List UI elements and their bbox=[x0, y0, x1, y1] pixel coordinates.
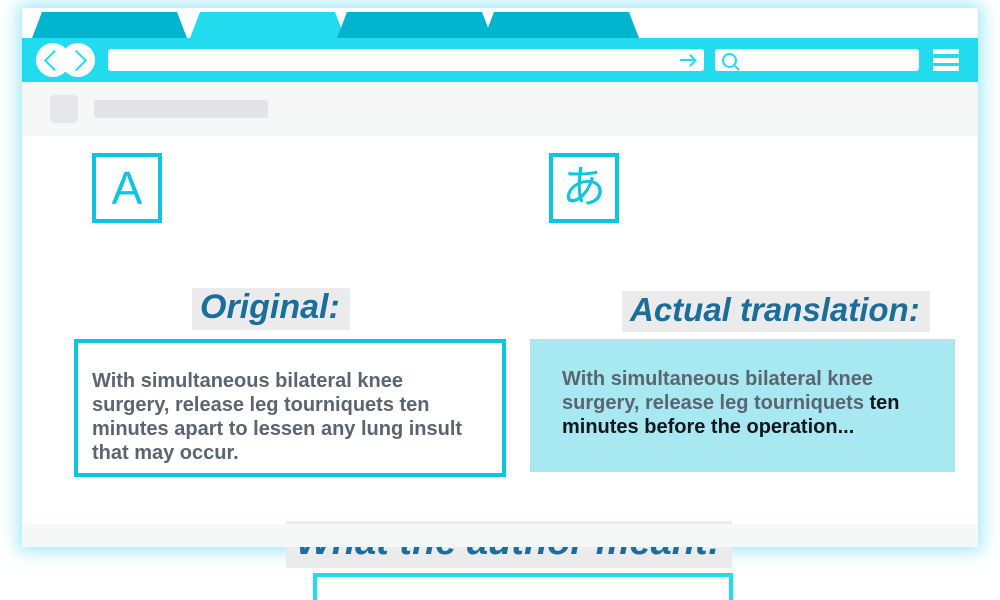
go-button[interactable] bbox=[670, 49, 704, 71]
browser-tab-1[interactable] bbox=[32, 12, 187, 38]
browser-tab-3[interactable] bbox=[337, 12, 492, 38]
search-icon bbox=[722, 53, 737, 68]
original-badge-wrap: A bbox=[92, 153, 162, 223]
back-button[interactable] bbox=[36, 43, 70, 77]
browser-toolbar bbox=[22, 38, 978, 82]
browser-tab-4[interactable] bbox=[484, 12, 639, 38]
arrow-right-icon bbox=[680, 59, 695, 61]
translation-badge-wrap: あ bbox=[549, 153, 619, 223]
search-input[interactable] bbox=[715, 49, 919, 71]
translation-heading: Actual translation: bbox=[622, 291, 930, 332]
bookmark-tile-placeholder[interactable] bbox=[50, 95, 78, 123]
address-bar[interactable] bbox=[108, 49, 704, 71]
translation-text-normal: With simultaneous bilateral knee surgery… bbox=[562, 368, 873, 414]
chevron-left-icon bbox=[44, 49, 65, 70]
author-meant-text: Release the tourniquet from one leg and … bbox=[317, 577, 729, 600]
original-panel: With simultaneous bilateral knee surgery… bbox=[74, 339, 506, 477]
page-content: A Original: With simultaneous bilateral … bbox=[22, 136, 978, 524]
original-text: With simultaneous bilateral knee surgery… bbox=[78, 343, 502, 465]
bookmark-bar-placeholder[interactable] bbox=[94, 100, 268, 118]
author-meant-panel: Release the tourniquet from one leg and … bbox=[313, 573, 733, 600]
navigation-buttons bbox=[36, 43, 98, 77]
browser-status-bar bbox=[22, 524, 978, 547]
translation-panel: With simultaneous bilateral knee surgery… bbox=[530, 339, 955, 472]
original-heading: Original: bbox=[192, 288, 350, 330]
screenshot-stage: A Original: With simultaneous bilateral … bbox=[0, 0, 1000, 600]
translation-language-badge: あ bbox=[549, 153, 619, 223]
original-language-badge: A bbox=[92, 153, 162, 223]
hamburger-line bbox=[933, 66, 959, 71]
bookmark-bar bbox=[22, 82, 978, 136]
hamburger-line bbox=[933, 49, 959, 54]
browser-window: A Original: With simultaneous bilateral … bbox=[22, 8, 978, 547]
browser-tabstrip bbox=[22, 8, 978, 38]
hamburger-menu-icon[interactable] bbox=[933, 49, 959, 71]
hamburger-line bbox=[933, 58, 959, 63]
translation-text: With simultaneous bilateral knee surgery… bbox=[530, 339, 955, 439]
browser-tab-2[interactable] bbox=[190, 12, 345, 38]
tabstrip-shapes bbox=[22, 8, 978, 38]
